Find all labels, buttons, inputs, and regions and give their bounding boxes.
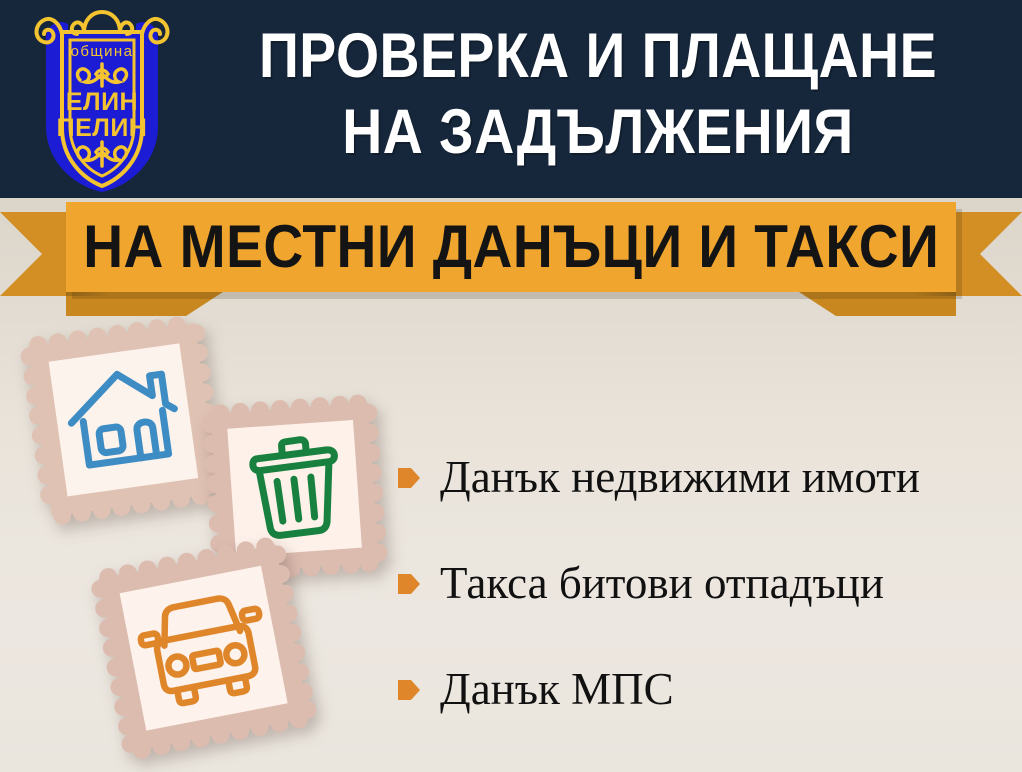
page-title-line-2: НА ЗАДЪЛЖЕНИЯ bbox=[230, 94, 966, 170]
list-item[interactable]: Данък МПС bbox=[398, 636, 1008, 742]
page-title: ПРОВЕРКА И ПЛАЩАНЕ НА ЗАДЪЛЖЕНИЯ bbox=[230, 18, 966, 170]
list-item-label: Такса битови отпадъци bbox=[440, 558, 884, 608]
logo-name-line1: ЕЛИН bbox=[66, 88, 138, 116]
list-item-label: Данък недвижими имоти bbox=[440, 452, 920, 502]
header-bar: община ЕЛИН ПЕЛИН ПРОВЕРКА И ПЛАЩАНЕ НА … bbox=[0, 0, 1022, 198]
list-item[interactable]: Такса битови отпадъци bbox=[398, 530, 1008, 636]
logo-name-line2: ПЕЛИН bbox=[57, 114, 148, 142]
logo-shield-svg: община ЕЛИН ПЕЛИН bbox=[22, 6, 182, 192]
poster-root: община ЕЛИН ПЕЛИН ПРОВЕРКА И ПЛАЩАНЕ НА … bbox=[0, 0, 1022, 772]
list-item[interactable]: Данък недвижими имоти bbox=[398, 424, 1008, 530]
ribbon-banner: НА МЕСТНИ ДАНЪЦИ И ТАКСИ bbox=[66, 202, 956, 292]
arrow-bullet-icon bbox=[398, 678, 420, 702]
municipality-logo: община ЕЛИН ПЕЛИН bbox=[22, 6, 182, 192]
subtitle-ribbon: НА МЕСТНИ ДАНЪЦИ И ТАКСИ bbox=[0, 198, 1022, 308]
arrow-bullet-icon bbox=[398, 466, 420, 490]
arrow-bullet-icon bbox=[398, 572, 420, 596]
logo-top-text: община bbox=[71, 43, 134, 60]
tax-type-list: Данък недвижими имоти Такса битови отпад… bbox=[398, 424, 1008, 742]
stamp-car-svg bbox=[88, 536, 323, 764]
ribbon-label: НА МЕСТНИ ДАНЪЦИ И ТАКСИ bbox=[83, 216, 939, 278]
list-item-label: Данък МПС bbox=[440, 664, 674, 714]
page-title-line-1: ПРОВЕРКА И ПЛАЩАНЕ bbox=[230, 18, 966, 94]
stamp-card-car bbox=[88, 536, 323, 764]
